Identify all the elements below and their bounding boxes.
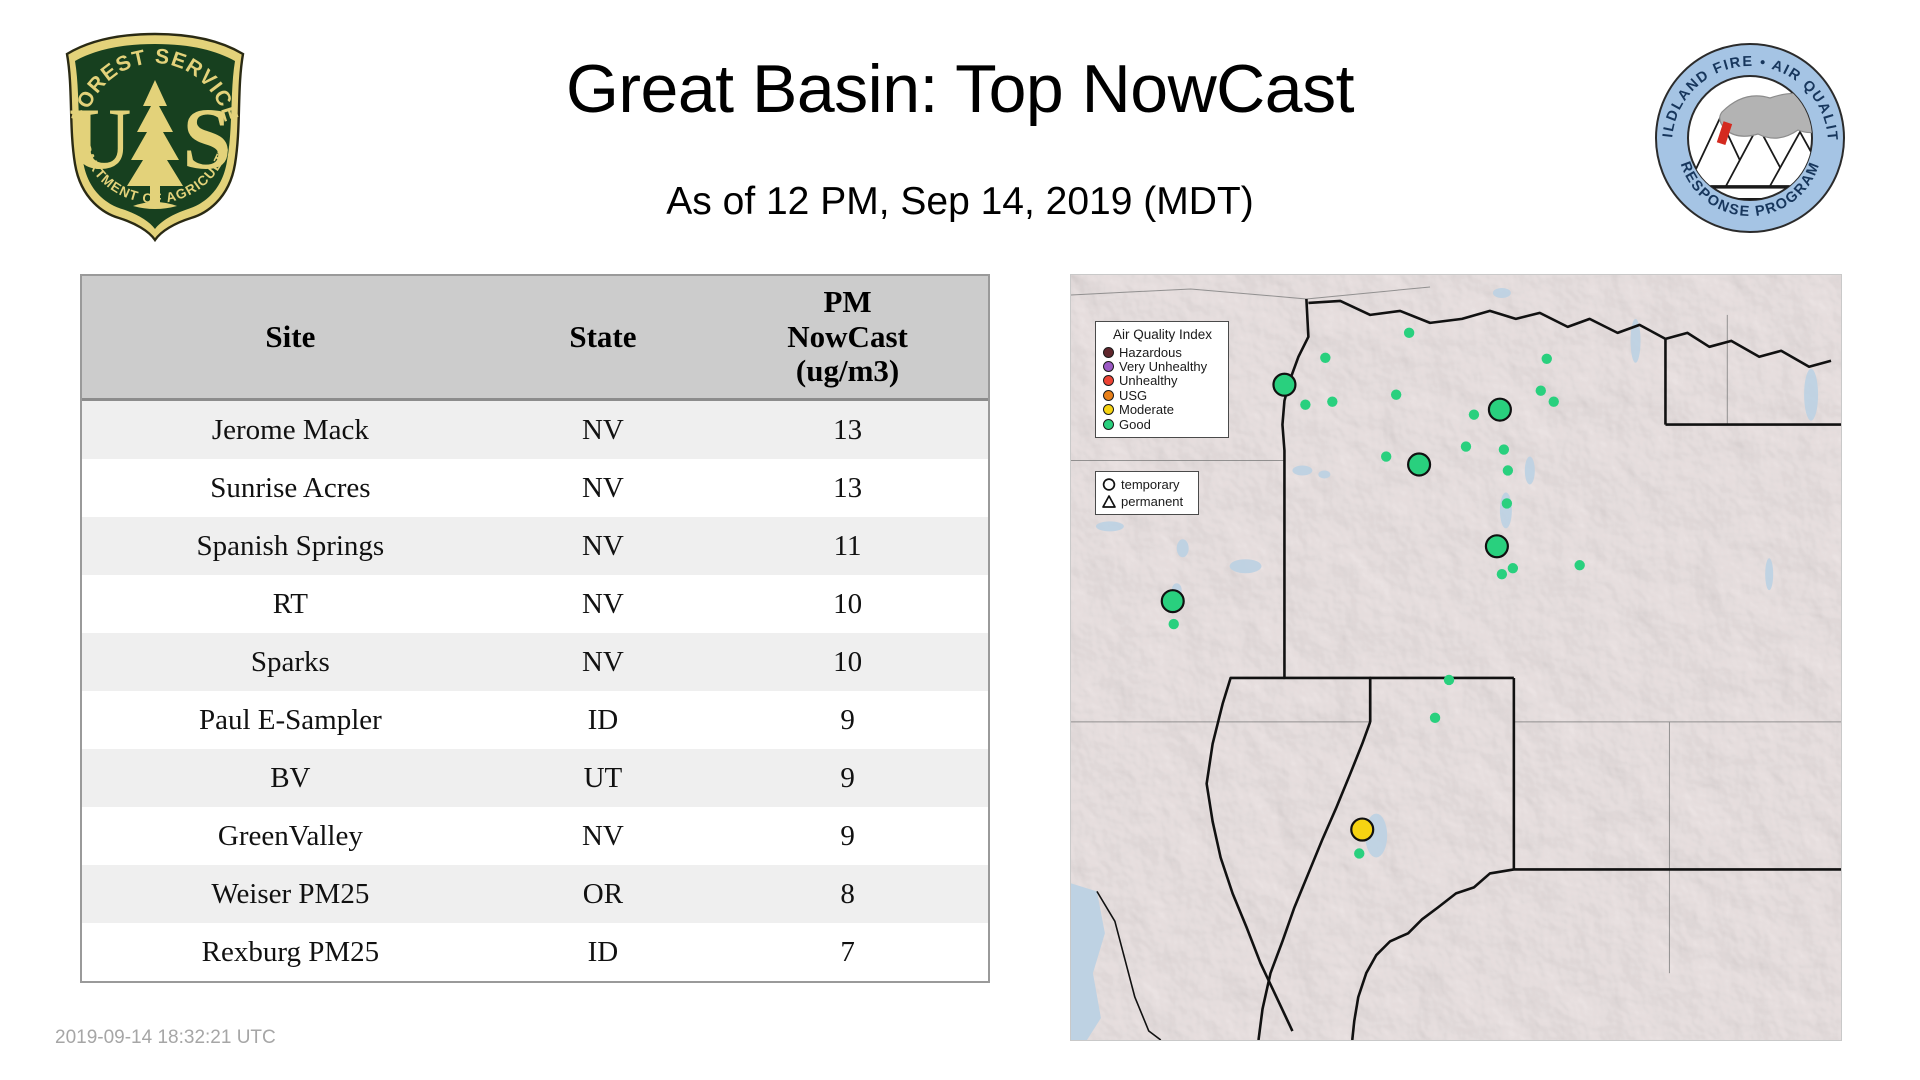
table-cell-value: 10 — [707, 633, 988, 691]
aqi-legend-swatch-icon — [1103, 419, 1114, 430]
table-cell-site: Paul E-Sampler — [82, 691, 499, 749]
aqi-legend-label: Moderate — [1119, 403, 1174, 416]
table-cell-value: 13 — [707, 459, 988, 517]
map-marker-small — [1502, 498, 1512, 508]
map-marker-small — [1499, 444, 1509, 454]
map-marker-site[interactable] — [1273, 374, 1295, 396]
table-cell-site: Weiser PM25 — [82, 865, 499, 923]
footer-timestamp: 2019-09-14 18:32:21 UTC — [55, 1027, 276, 1049]
aqi-legend-row: Very Unhealthy — [1103, 359, 1222, 373]
map-marker-small — [1327, 396, 1337, 406]
aqi-legend-rows: HazardousVery UnhealthyUnhealthyUSGModer… — [1103, 345, 1222, 431]
column-header-pm-line2: NowCast — [787, 319, 908, 354]
column-header-pm-line3: (ug/m3) — [796, 353, 899, 388]
table-row: Sunrise AcresNV13 — [82, 459, 988, 517]
map-marker-small — [1503, 465, 1513, 475]
table-cell-site: Sparks — [82, 633, 499, 691]
column-header-pm-line1: PM — [823, 284, 871, 319]
table-body: Jerome MackNV13Sunrise AcresNV13Spanish … — [82, 400, 988, 982]
monitor-legend-label-temporary: temporary — [1121, 478, 1180, 491]
table-row: Jerome MackNV13 — [82, 400, 988, 460]
table-cell-state: NV — [499, 807, 707, 865]
aqi-legend: Air Quality Index HazardousVery Unhealth… — [1095, 321, 1229, 438]
map-marker-small — [1430, 713, 1440, 723]
aqi-legend-swatch-icon — [1103, 404, 1114, 415]
monitor-legend-row-temporary: temporary — [1101, 476, 1193, 493]
nowcast-table: Site State PM NowCast (ug/m3) Jerome Mac… — [82, 276, 988, 981]
table-cell-site: Rexburg PM25 — [82, 923, 499, 981]
map-marker-site[interactable] — [1486, 535, 1508, 557]
aqi-legend-row: Moderate — [1103, 403, 1222, 417]
table-cell-site: BV — [82, 749, 499, 807]
aqi-legend-row: Unhealthy — [1103, 374, 1222, 388]
table-cell-site: Spanish Springs — [82, 517, 499, 575]
table-row: GreenValleyNV9 — [82, 807, 988, 865]
table-cell-value: 11 — [707, 517, 988, 575]
page-subtitle: As of 12 PM, Sep 14, 2019 (MDT) — [300, 182, 1620, 221]
monitor-type-legend: temporary permanent — [1095, 471, 1199, 515]
map-marker-small — [1549, 396, 1559, 406]
aqi-legend-label: Hazardous — [1119, 346, 1182, 359]
map-marker-small — [1381, 451, 1391, 461]
table-row: BVUT9 — [82, 749, 988, 807]
table-row: Spanish SpringsNV11 — [82, 517, 988, 575]
table-row: RTNV10 — [82, 575, 988, 633]
map-marker-small — [1497, 569, 1507, 579]
map-marker-small — [1536, 386, 1546, 396]
table-cell-value: 9 — [707, 691, 988, 749]
column-header-pm-nowcast: PM NowCast (ug/m3) — [707, 276, 988, 400]
column-header-site: Site — [82, 276, 499, 400]
forest-service-logo: FOREST SERVICE DEPARTMENT OF AGRICULTURE… — [55, 28, 255, 246]
table-row: Rexburg PM25ID7 — [82, 923, 988, 981]
table-cell-site: GreenValley — [82, 807, 499, 865]
map-marker-small — [1444, 675, 1454, 685]
map-marker-site[interactable] — [1162, 590, 1184, 612]
monitor-legend-row-permanent: permanent — [1101, 493, 1193, 510]
table-cell-state: NV — [499, 400, 707, 460]
wildland-fire-air-quality-logo: WILDLAND FIRE • AIR QUALITY RESPONSE PRO… — [1652, 40, 1848, 236]
table-cell-state: NV — [499, 459, 707, 517]
map-marker-site[interactable] — [1351, 819, 1373, 841]
forest-service-shield-icon: FOREST SERVICE DEPARTMENT OF AGRICULTURE… — [55, 28, 255, 246]
map-marker-small — [1469, 409, 1479, 419]
aqi-legend-swatch-icon — [1103, 375, 1114, 386]
table-cell-site: Sunrise Acres — [82, 459, 499, 517]
aqi-legend-row: Good — [1103, 417, 1222, 431]
aqi-legend-title: Air Quality Index — [1103, 327, 1222, 342]
table-cell-state: NV — [499, 517, 707, 575]
table-row: SparksNV10 — [82, 633, 988, 691]
map-marker-small — [1542, 354, 1552, 364]
wfaqrp-seal-icon: WILDLAND FIRE • AIR QUALITY RESPONSE PRO… — [1652, 40, 1848, 236]
permanent-monitor-triangle-icon — [1101, 494, 1117, 509]
table-cell-state: ID — [499, 923, 707, 981]
aqi-legend-label: Good — [1119, 418, 1151, 431]
page-header: FOREST SERVICE DEPARTMENT OF AGRICULTURE… — [0, 0, 1920, 268]
map-marker-small — [1169, 619, 1179, 629]
table-cell-state: ID — [499, 691, 707, 749]
map-marker-small — [1404, 328, 1414, 338]
map-marker-small — [1320, 353, 1330, 363]
temporary-monitor-circle-icon — [1101, 477, 1117, 492]
table-cell-site: RT — [82, 575, 499, 633]
map-marker-small — [1391, 390, 1401, 400]
map-marker-small — [1300, 399, 1310, 409]
table-header-row: Site State PM NowCast (ug/m3) — [82, 276, 988, 400]
table-cell-value: 13 — [707, 400, 988, 460]
table-header: Site State PM NowCast (ug/m3) — [82, 276, 988, 400]
table-cell-value: 10 — [707, 575, 988, 633]
map-marker-site[interactable] — [1489, 399, 1511, 421]
map-marker-small — [1574, 560, 1584, 570]
aqi-legend-swatch-icon — [1103, 390, 1114, 401]
table-cell-state: OR — [499, 865, 707, 923]
table-cell-value: 9 — [707, 807, 988, 865]
table-cell-state: UT — [499, 749, 707, 807]
aqi-legend-row: Hazardous — [1103, 345, 1222, 359]
table-cell-value: 8 — [707, 865, 988, 923]
aqi-legend-label: USG — [1119, 389, 1147, 402]
us-letter-u: U — [68, 91, 132, 188]
monitor-legend-label-permanent: permanent — [1121, 495, 1183, 508]
table-cell-state: NV — [499, 633, 707, 691]
top-nowcast-table: Site State PM NowCast (ug/m3) Jerome Mac… — [80, 274, 990, 983]
aqi-legend-swatch-icon — [1103, 361, 1114, 372]
column-header-state: State — [499, 276, 707, 400]
map-marker-small — [1354, 848, 1364, 858]
table-cell-site: Jerome Mack — [82, 400, 499, 460]
map-marker-small — [1508, 563, 1518, 573]
aqi-legend-label: Unhealthy — [1119, 374, 1178, 387]
table-cell-state: NV — [499, 575, 707, 633]
table-cell-value: 7 — [707, 923, 988, 981]
aqi-legend-row: USG — [1103, 388, 1222, 402]
map-marker-small — [1461, 441, 1471, 451]
aqi-legend-label: Very Unhealthy — [1119, 360, 1207, 373]
us-letter-s: S — [183, 91, 232, 188]
air-quality-map[interactable]: Air Quality Index HazardousVery Unhealth… — [1070, 274, 1842, 1041]
table-row: Paul E-SamplerID9 — [82, 691, 988, 749]
page-title: Great Basin: Top NowCast — [300, 55, 1620, 123]
map-marker-site[interactable] — [1408, 454, 1430, 476]
table-row: Weiser PM25OR8 — [82, 865, 988, 923]
table-cell-value: 9 — [707, 749, 988, 807]
aqi-legend-swatch-icon — [1103, 347, 1114, 358]
